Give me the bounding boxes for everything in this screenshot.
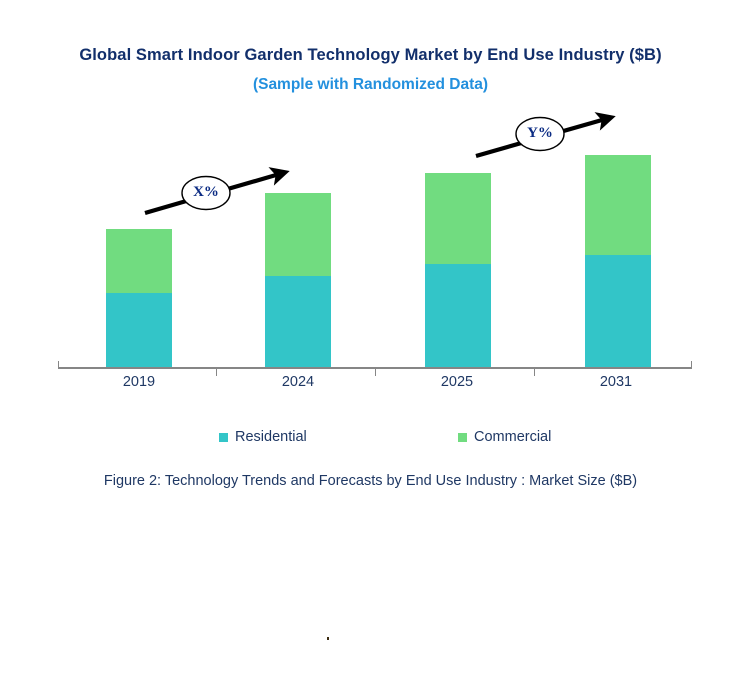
bar-stack-2019[interactable] xyxy=(106,229,172,368)
x-axis-tick xyxy=(375,369,376,376)
x-axis-label-2: 2025 xyxy=(387,374,527,390)
legend-item-residential[interactable]: Residential xyxy=(219,429,307,445)
legend-swatch-residential xyxy=(219,433,228,442)
x-axis-tick xyxy=(58,361,59,369)
bar-segment-residential-2031[interactable] xyxy=(585,255,651,368)
stray-dot-artifact xyxy=(327,637,329,640)
figure-caption: Figure 2: Technology Trends and Forecast… xyxy=(0,473,741,489)
bar-segment-commercial-2019[interactable] xyxy=(106,229,172,293)
chart-legend: Residential Commercial xyxy=(0,429,741,449)
legend-label-commercial: Commercial xyxy=(474,429,551,445)
x-axis-tick xyxy=(216,369,217,376)
legend-item-commercial[interactable]: Commercial xyxy=(458,429,551,445)
x-axis-label-3: 2031 xyxy=(546,374,686,390)
bar-segment-residential-2019[interactable] xyxy=(106,293,172,368)
bar-stack-2031[interactable] xyxy=(585,155,651,368)
legend-swatch-commercial xyxy=(458,433,467,442)
bar-segment-residential-2024[interactable] xyxy=(265,276,331,368)
bar-segment-commercial-2024[interactable] xyxy=(265,193,331,276)
chart-plot-area: 2019 2024 2025 2031 X% Y% xyxy=(0,0,741,420)
cagr-label-left: X% xyxy=(183,184,229,201)
bar-segment-residential-2025[interactable] xyxy=(425,264,491,368)
legend-label-residential: Residential xyxy=(235,429,307,445)
cagr-label-right: Y% xyxy=(517,125,563,142)
bar-stack-2025[interactable] xyxy=(425,173,491,368)
bar-segment-commercial-2025[interactable] xyxy=(425,173,491,264)
x-axis-tick xyxy=(534,369,535,376)
x-axis-label-0: 2019 xyxy=(69,374,209,390)
bar-segment-commercial-2031[interactable] xyxy=(585,155,651,255)
bar-stack-2024[interactable] xyxy=(265,193,331,368)
x-axis-label-1: 2024 xyxy=(228,374,368,390)
x-axis-tick xyxy=(691,361,692,369)
